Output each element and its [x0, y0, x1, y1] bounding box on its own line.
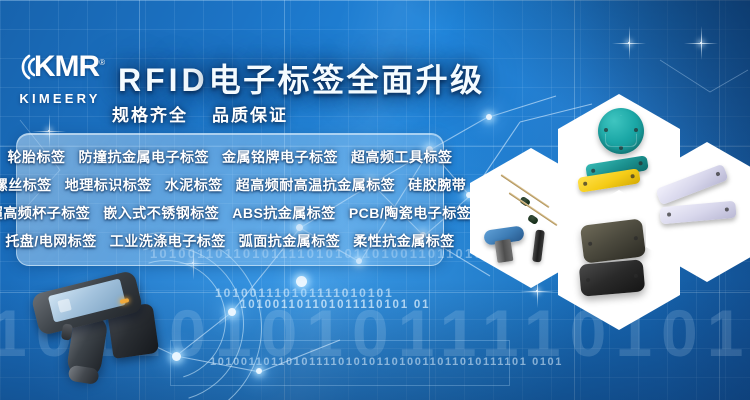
tag-item: 超高频耐高温抗金属标签 [236, 175, 396, 195]
page-title-en: RFID [118, 62, 209, 98]
tag-item: 螺丝标签 [0, 175, 52, 195]
tag-item: 金属铭牌电子标签 [222, 147, 338, 167]
tag-item: 硅胶腕带 [408, 175, 466, 195]
tag-item: 超高频工具标签 [351, 147, 453, 167]
product-tag-list-panel: 轮胎标签 防撞抗金属电子标签 金属铭牌电子标签 超高频工具标签 螺丝标签 地理标… [16, 133, 444, 266]
tag-item: 柔性抗金属标签 [353, 231, 455, 251]
tag-item: 弧面抗金属标签 [239, 231, 341, 251]
logo-arc-icon [15, 54, 35, 80]
grid-sparkle [628, 42, 630, 44]
grid-sparkle [700, 42, 702, 44]
grid-sparkle [48, 130, 50, 132]
abs-anti-metal-tag [580, 218, 646, 263]
tag-item: 防撞抗金属电子标签 [79, 147, 210, 167]
tag-item: 超高频杯子标签 [0, 203, 90, 223]
tag-item: 轮胎标签 [8, 147, 66, 167]
flexible-anti-metal-tag [655, 164, 728, 206]
rfid-promo-banner: 1011010101111010101110 10100110110101111… [0, 0, 750, 400]
tag-item: 水泥标签 [165, 175, 223, 195]
glass-tube-chip [527, 214, 539, 225]
logo-mark: KMR® [16, 52, 104, 82]
page-title: RFID电子标签全面升级 [104, 51, 501, 107]
abs-anti-metal-tag [579, 259, 646, 296]
disc-tag [598, 108, 644, 154]
tag-item: 工业洗涤电子标签 [110, 231, 226, 251]
tag-row: 托盘/电网标签 工业洗涤电子标签 弧面抗金属标签 柔性抗金属标签 [17, 227, 443, 255]
flexible-anti-metal-tag [659, 201, 736, 225]
page-subtitle-right: 品质保证 [212, 106, 288, 125]
tag-item: 地理标识标签 [65, 175, 152, 195]
tag-item: PCB/陶瓷电子标签 [349, 203, 471, 223]
tag-item: 嵌入式不锈钢标签 [103, 203, 219, 223]
tag-row: 超高频杯子标签 嵌入式不锈钢标签 ABS抗金属标签 PCB/陶瓷电子标签 [17, 199, 443, 227]
logo-company-name: KIMEERY [14, 91, 106, 106]
screw-stem [495, 239, 514, 263]
tag-item: 托盘/电网标签 [5, 231, 96, 251]
brand-logo: KMR® KIMEERY [14, 52, 106, 106]
page-subtitle: 规格齐全品质保证 [112, 101, 288, 126]
page-subtitle-left: 规格齐全 [112, 106, 188, 125]
tag-row: 轮胎标签 防撞抗金属电子标签 金属铭牌电子标签 超高频工具标签 [17, 143, 443, 171]
tag-row: 螺丝标签 地理标识标签 水泥标签 超高频耐高温抗金属标签 硅胶腕带 [17, 171, 443, 199]
rod-tag [532, 230, 545, 263]
page-title-cn: 电子标签全面升级 [209, 62, 485, 98]
network-node [486, 114, 492, 120]
handheld-rfid-reader [32, 272, 182, 392]
grid-sparkle [536, 290, 538, 292]
tag-item: ABS抗金属标签 [232, 203, 336, 223]
